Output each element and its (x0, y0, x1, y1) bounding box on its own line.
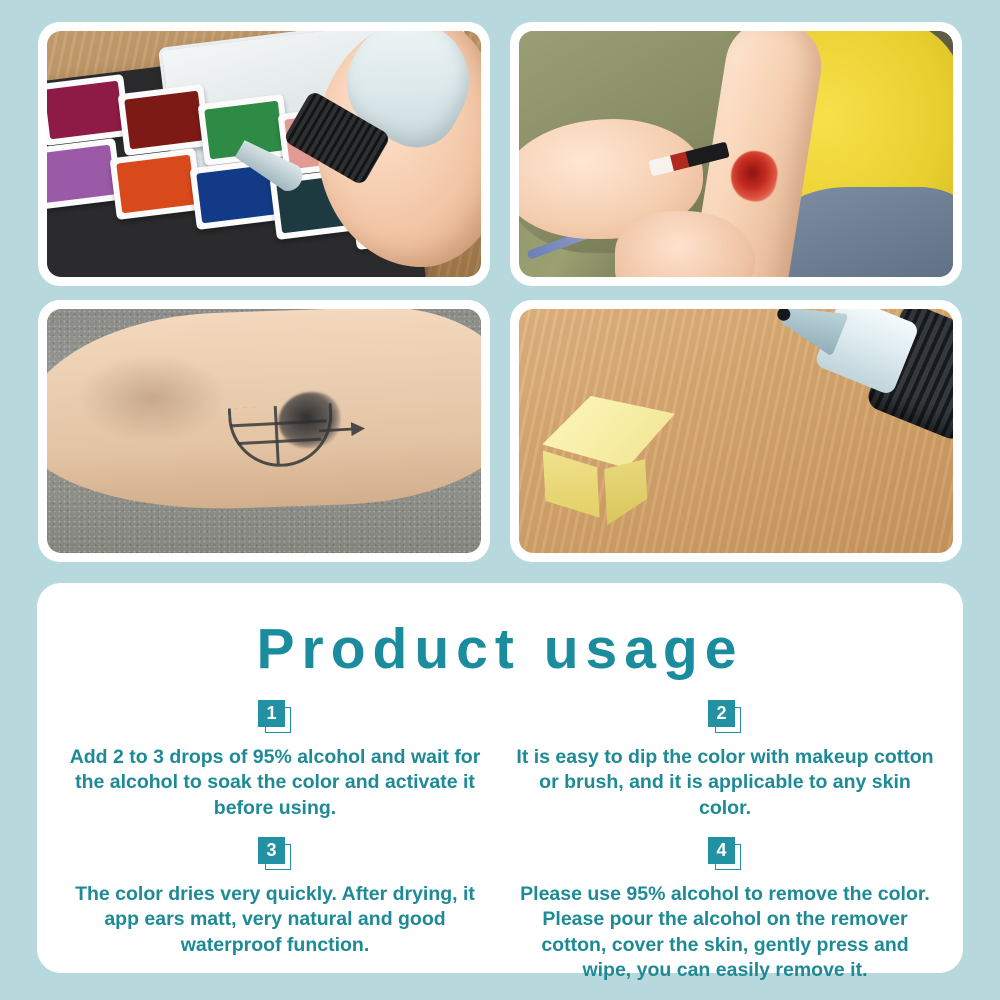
photo-sponge-and-bottle (510, 300, 962, 562)
sponge-scene (519, 309, 953, 553)
step-description: It is easy to dip the color with makeup … (513, 745, 938, 821)
step-number-badge-1: 1 (258, 700, 292, 734)
usage-step-3: 3 The color dries very quickly. After dr… (59, 837, 491, 983)
usage-step-2: 2 It is easy to dip the color with makeu… (509, 700, 941, 821)
paint-pan (110, 148, 203, 220)
product-usage-card: Product usage 1 Add 2 to 3 drops of 95% … (37, 583, 963, 973)
step-description: The color dries very quickly. After dryi… (59, 882, 491, 958)
photo-paint-palette (38, 22, 490, 286)
paint-pan (47, 74, 130, 146)
step-number-badge-2: 2 (708, 700, 742, 734)
wound-application-scene (519, 31, 953, 277)
badge-number: 2 (708, 700, 735, 727)
leg-shading (77, 353, 227, 443)
badge-number: 4 (708, 837, 735, 864)
step-description: Please use 95% alcohol to remove the col… (515, 882, 935, 983)
paint-palette-scene (47, 31, 481, 277)
tattoo-ink-blob (277, 391, 342, 450)
usage-step-4: 4 Please use 95% alcohol to remove the c… (509, 837, 941, 983)
step-number-badge-3: 3 (258, 837, 292, 871)
photo-wound-application (510, 22, 962, 286)
usage-steps-grid: 1 Add 2 to 3 drops of 95% alcohol and wa… (37, 678, 963, 983)
paint-pan (118, 84, 211, 156)
yellow-sponge (540, 392, 680, 519)
product-infographic: Product usage 1 Add 2 to 3 drops of 95% … (0, 0, 1000, 1000)
usage-step-1: 1 Add 2 to 3 drops of 95% alcohol and wa… (59, 700, 491, 821)
badge-number: 1 (258, 700, 285, 727)
tattoo-scene (47, 309, 481, 553)
step-description: Add 2 to 3 drops of 95% alcohol and wait… (59, 745, 491, 821)
badge-number: 3 (258, 837, 285, 864)
page-title: Product usage (37, 621, 963, 678)
step-number-badge-4: 4 (708, 837, 742, 871)
photo-tattoo-on-leg (38, 300, 490, 562)
tattoo-artwork (221, 387, 371, 473)
